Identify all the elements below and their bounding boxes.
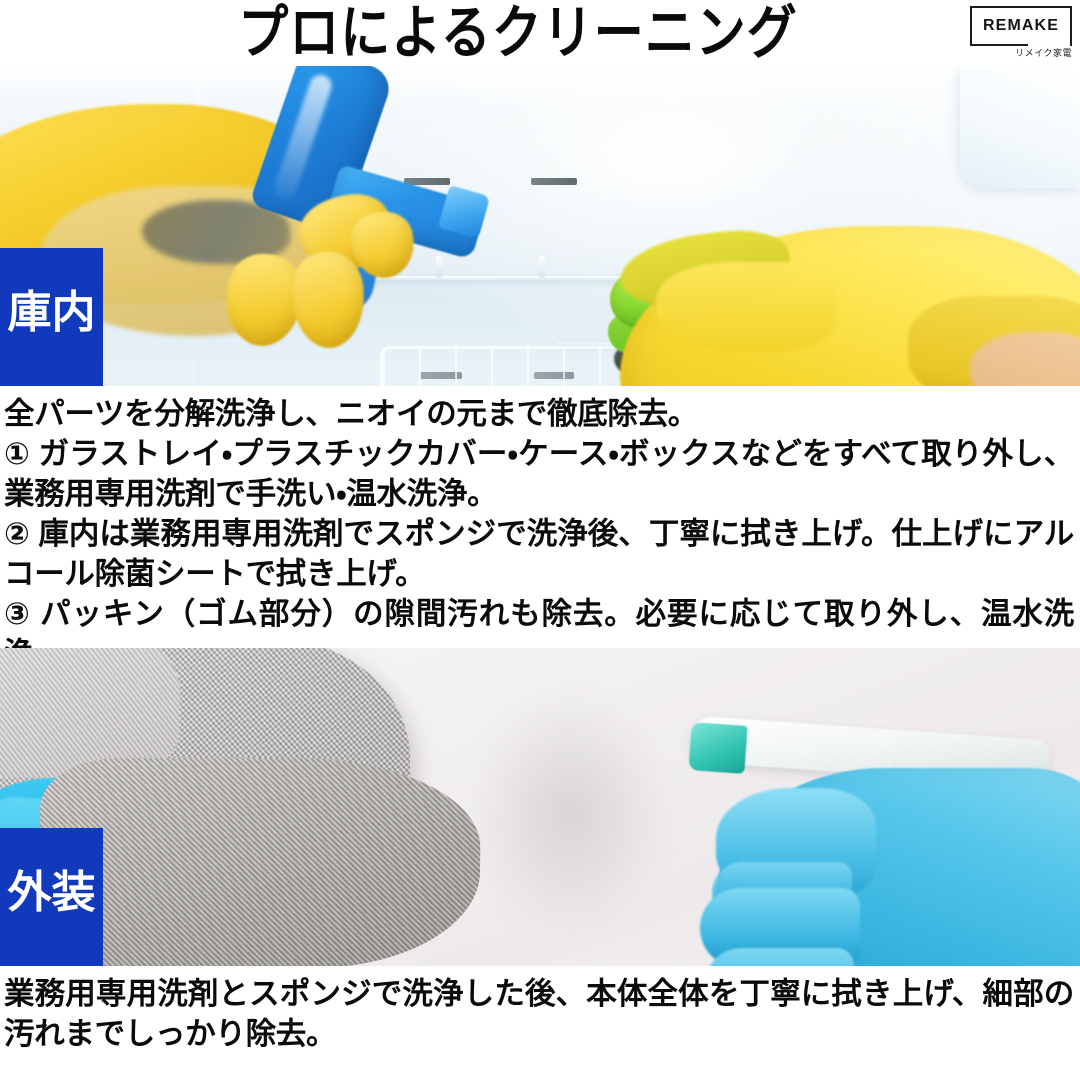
logo-frame-top-line [970,6,1072,8]
section-badge-interior-label: 庫内 [8,291,96,335]
exterior-description-block: 業務用専用洗剤とスポンジで洗浄した後、本体全体を丁寧に拭き上げ、細部の汚れまでし… [0,966,1080,1080]
fridge-shelf-post [538,256,545,278]
photo-interior-cleaning: 庫内 [0,66,1080,386]
interior-description-block: 全パーツを分解洗浄し、ニオイの元まで徹底除去。 ① ガラストレイ・プラスチックカ… [0,386,1080,648]
section-badge-exterior: 外装 [0,828,103,966]
fridge-slot [531,178,577,185]
fridge-top-panel [960,66,1080,188]
page-header: プロによるクリーニング REMAKE リメイク家電 [0,0,1080,66]
page-title: プロによるクリーニング [238,4,798,62]
blue-glove-finger [704,948,854,966]
spray-bottle-nozzle [688,722,747,774]
interior-line-2: ① ガラストレイ・プラスチックカバー・ケース・ボックスなどをすべて取り外し、業務… [4,434,1074,514]
infographic-page: プロによるクリーニング REMAKE リメイク家電 [0,0,1080,1080]
interior-line-3: ② 庫内は業務用専用洗剤でスポンジで洗浄後、丁寧に拭き上げ。仕上げにアルコール除… [4,514,1074,594]
background-shadow [470,688,670,938]
section-badge-exterior-label: 外装 [8,871,96,915]
exterior-line-1: 業務用専用洗剤とスポンジで洗浄した後、本体全体を丁寧に拭き上げ、細部の汚れまでし… [4,974,1074,1054]
brand-name-text: REMAKE [970,15,1072,37]
brand-logo: REMAKE リメイク家電 [970,6,1072,58]
yellow-glove-fingers [656,262,836,352]
fridge-shelf-post [436,256,443,278]
brand-subtitle-text: リメイク家電 [1015,46,1072,59]
interior-line-1: 全パーツを分解洗浄し、ニオイの元まで徹底除去。 [4,394,1074,434]
section-badge-interior: 庫内 [0,248,103,386]
towel-front-drape [40,758,480,966]
photo-exterior-cleaning: 外装 [0,648,1080,966]
